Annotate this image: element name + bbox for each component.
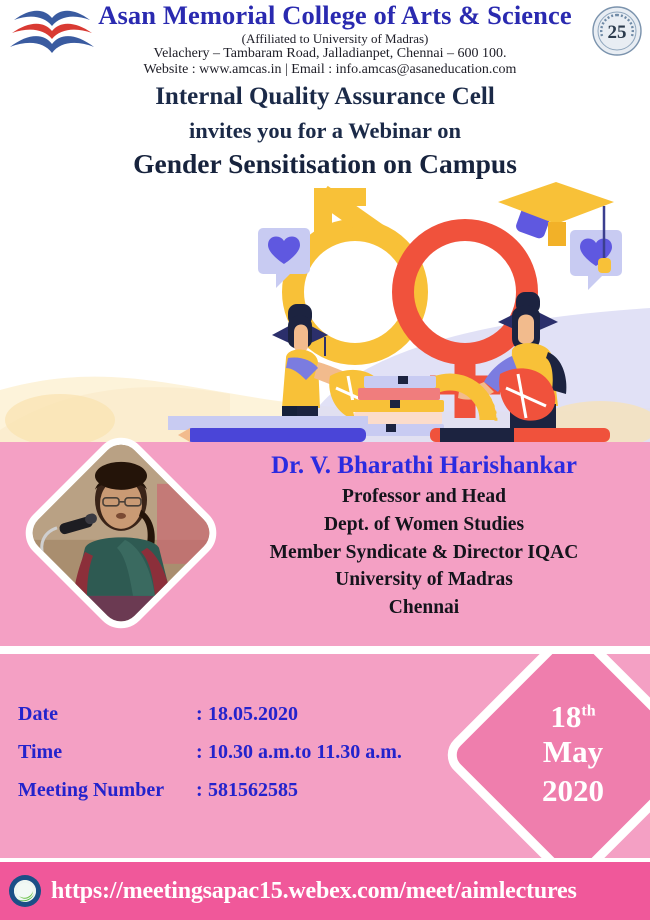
detail-row-meeting-number: Meeting Number : 581562585 [18, 778, 402, 802]
footer-bar: https://meetingsapac15.webex.com/meet/ai… [0, 862, 650, 920]
webex-icon [8, 874, 42, 908]
badge-day: 18th [550, 701, 595, 734]
meeting-number-value: 581562585 [208, 778, 298, 802]
date-value: 18.05.2020 [208, 702, 298, 726]
date-colon: : [196, 702, 208, 726]
speaker-designation-2: Dept. of Women Studies [210, 511, 638, 539]
college-name: Asan Memorial College of Arts & Science [95, 2, 575, 30]
badge-year: 2020 [542, 772, 604, 809]
detail-row-date: Date : 18.05.2020 [18, 702, 402, 726]
date-badge: 18th May 2020 [439, 654, 650, 858]
speaker-designation-5: Chennai [210, 594, 638, 622]
speaker-name: Dr. V. Bharathi Harishankar [210, 450, 638, 481]
webinar-poster: 25 Asan Memorial College of Arts & Scien… [0, 0, 650, 920]
meeting-number-colon: : [196, 778, 208, 802]
meeting-number-label: Meeting Number [18, 778, 196, 802]
webinar-topic: Gender Sensitisation on Campus [0, 148, 650, 180]
svg-text:25: 25 [608, 22, 627, 43]
date-label: Date [18, 702, 196, 726]
speaker-designation-1: Professor and Head [210, 483, 638, 511]
speaker-band: Dr. V. Bharathi Harishankar Professor an… [0, 442, 650, 646]
time-label: Time [18, 740, 196, 764]
contact-line: Website : www.amcas.in | Email : info.am… [60, 61, 600, 79]
speaker-details: Dr. V. Bharathi Harishankar Professor an… [210, 450, 638, 622]
badge-month: May [543, 733, 603, 772]
speaker-photo-frame [38, 454, 204, 632]
webinar-url[interactable]: https://meetingsapac15.webex.com/meet/ai… [51, 878, 577, 905]
speaker-designation-4: University of Madras [210, 566, 638, 594]
time-colon: : [196, 740, 208, 764]
badge-day-suffix: th [581, 702, 595, 719]
event-details-band: Date : 18.05.2020 Time : 10.30 a.m.to 11… [0, 654, 650, 858]
poster-header: 25 Asan Memorial College of Arts & Scien… [0, 0, 650, 180]
event-details-list: Date : 18.05.2020 Time : 10.30 a.m.to 11… [18, 702, 402, 816]
iqac-title: Internal Quality Assurance Cell [0, 83, 650, 111]
gender-sensitisation-illustration [0, 180, 650, 442]
speaker-portrait-at-podium [29, 444, 213, 628]
speaker-designation-3: Member Syndicate & Director IQAC [210, 539, 638, 567]
detail-row-time: Time : 10.30 a.m.to 11.30 a.m. [18, 740, 402, 764]
time-value: 10.30 a.m.to 11.30 a.m. [208, 740, 402, 764]
invite-line: invites you for a Webinar on [0, 118, 650, 144]
band-divider [0, 646, 650, 654]
